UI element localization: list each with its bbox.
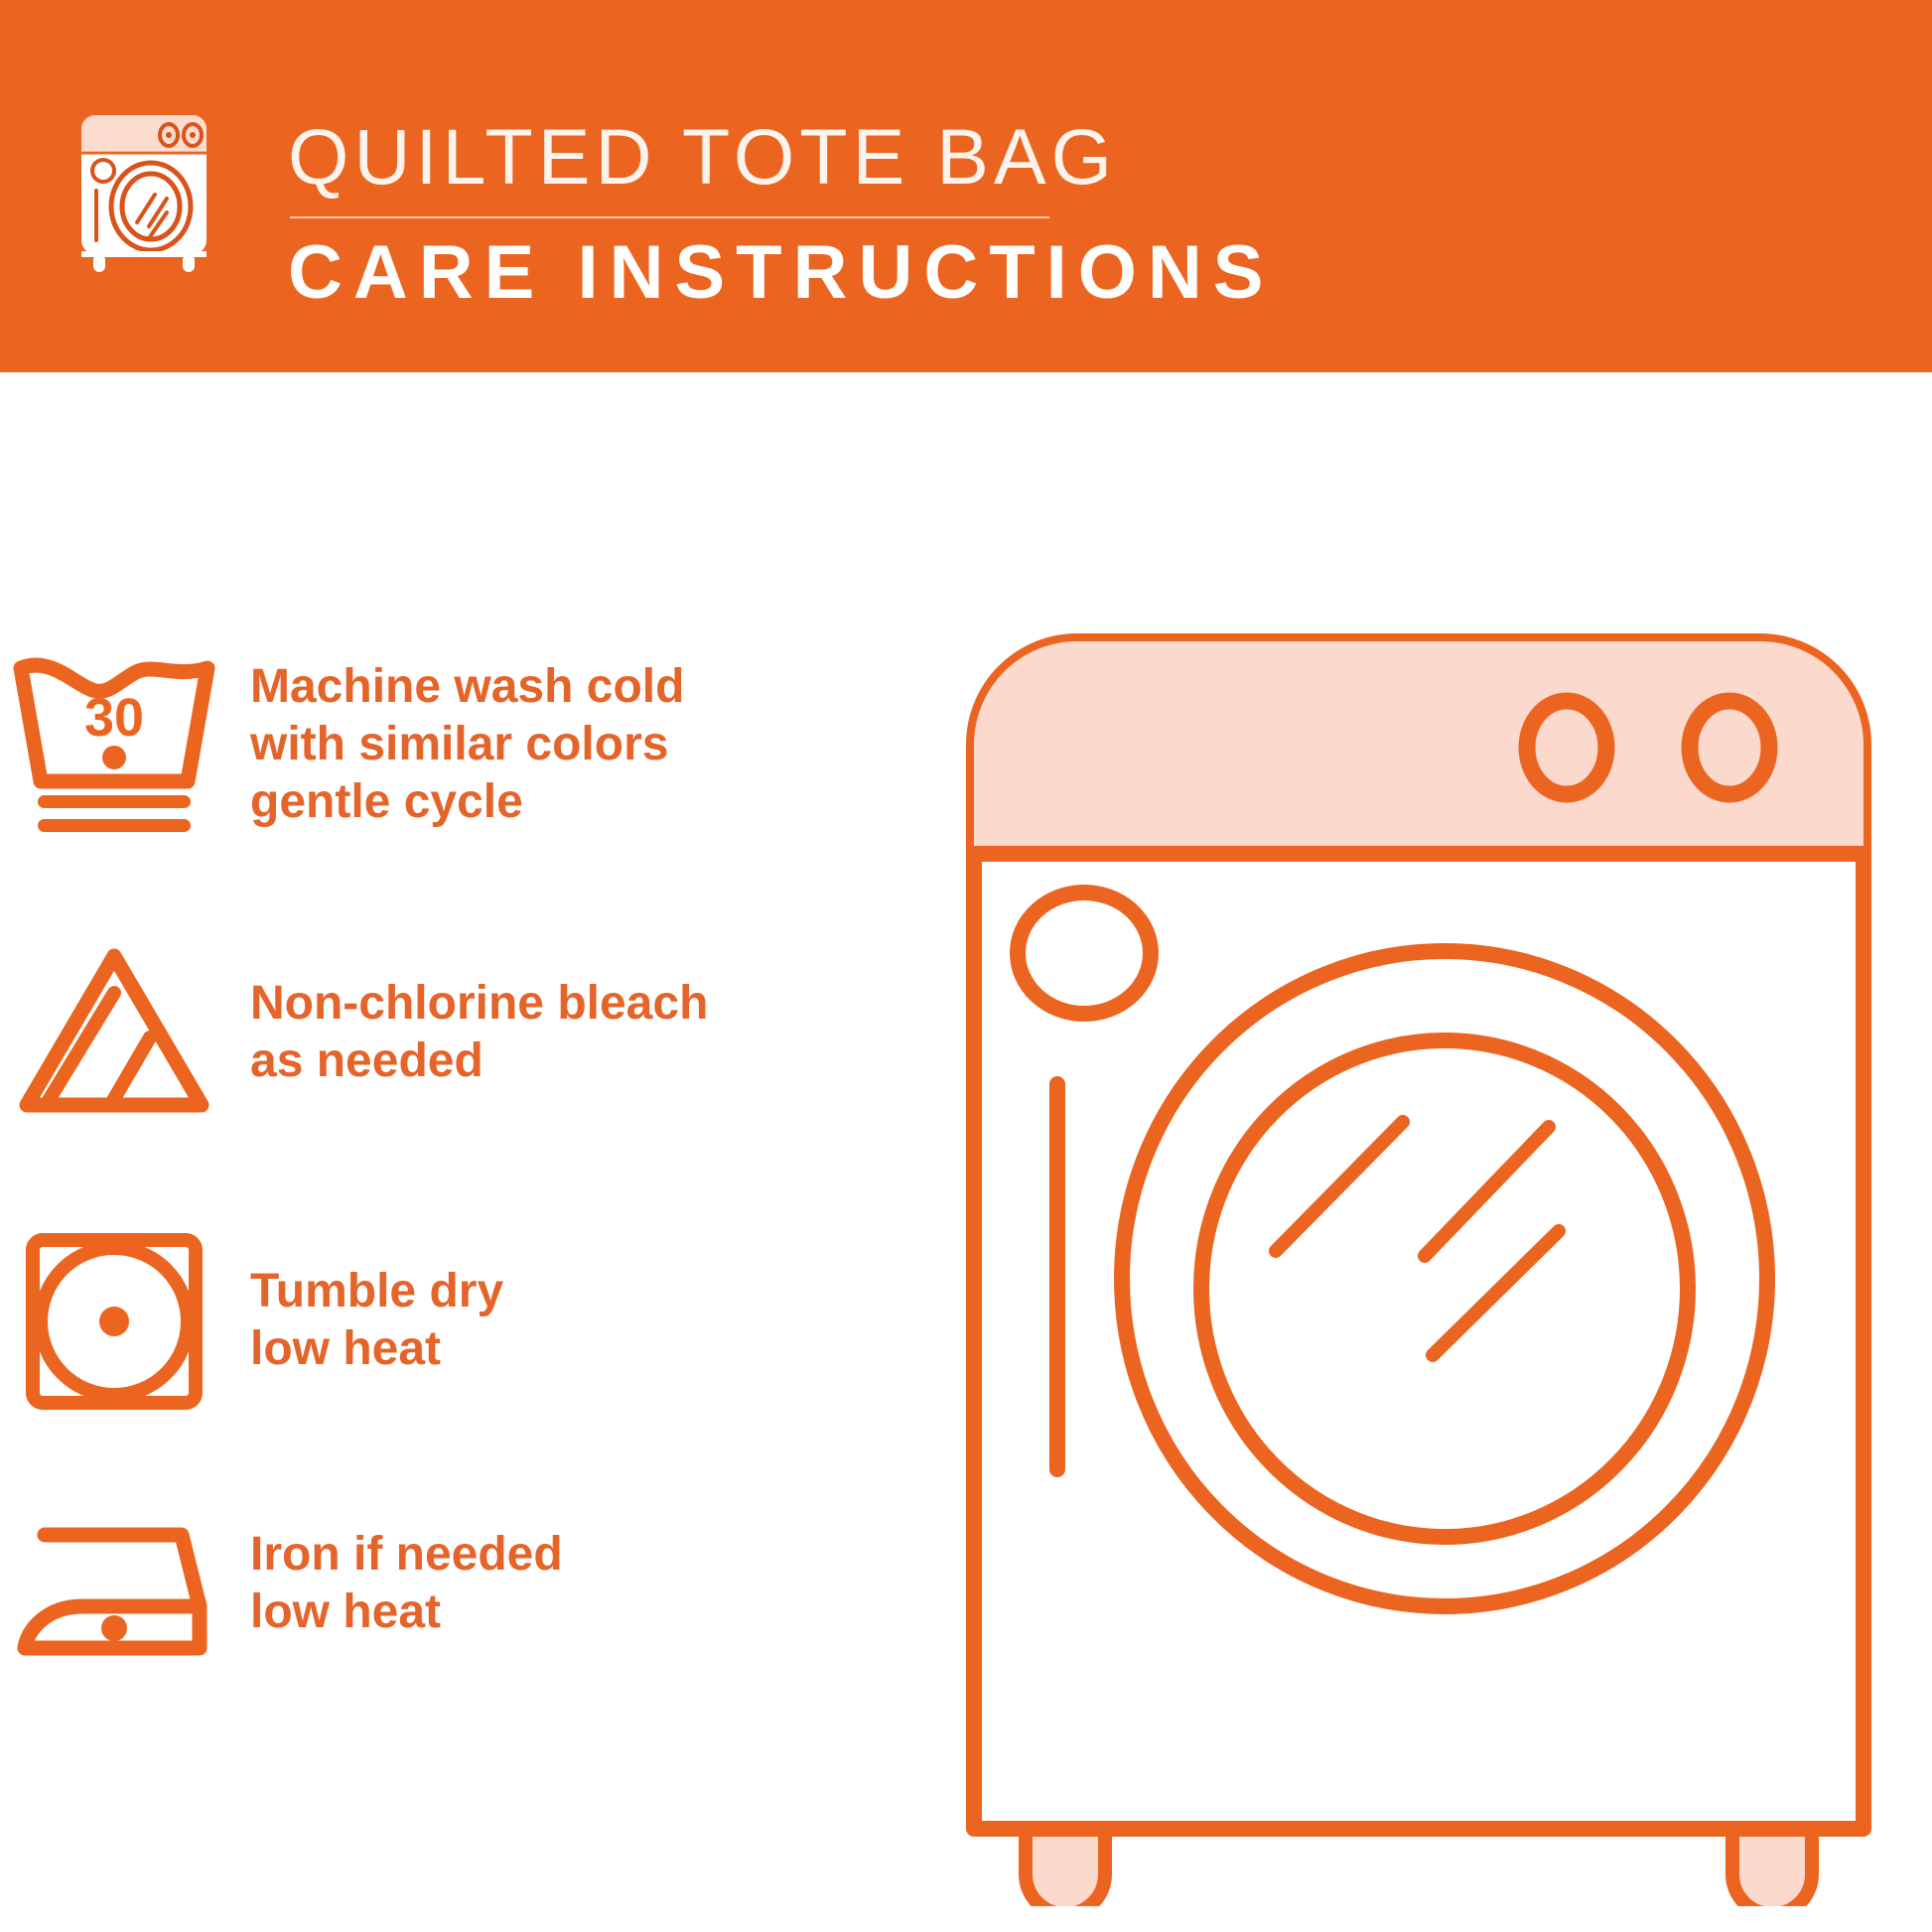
page-title: QUILTED TOTE BAG xyxy=(288,111,1410,203)
care-label-tumble-dry: Tumble dry low heat xyxy=(228,1263,503,1378)
tumble-dry-low-icon xyxy=(0,1221,228,1420)
knob-right xyxy=(1690,701,1769,794)
knob-left xyxy=(1527,701,1606,794)
care-row-machine-wash: 30 Machine wash cold with similar colors… xyxy=(0,645,933,844)
header-banner: QUILTED TOTE BAG CARE INSTRUCTIONS xyxy=(0,0,1932,372)
svg-text:30: 30 xyxy=(84,688,144,748)
care-row-bleach: Non-chlorine bleach as needed xyxy=(0,933,933,1132)
wash-basin-30-icon: 30 xyxy=(0,645,228,844)
care-label-iron: Iron if needed low heat xyxy=(228,1526,563,1641)
care-row-tumble-dry: Tumble dry low heat xyxy=(0,1221,933,1420)
header-title-block: QUILTED TOTE BAG CARE INSTRUCTIONS xyxy=(288,111,1410,316)
non-chlorine-bleach-triangle-icon xyxy=(0,933,228,1132)
page-subtitle: CARE INSTRUCTIONS xyxy=(288,230,1410,316)
care-label-machine-wash: Machine wash cold with similar colors ge… xyxy=(228,658,684,831)
care-row-iron: Iron if needed low heat xyxy=(0,1484,933,1683)
washing-machine-logo-icon xyxy=(69,107,218,276)
front-load-washing-machine-illustration xyxy=(948,616,1886,1906)
iron-low-heat-icon xyxy=(0,1484,228,1683)
care-label-bleach: Non-chlorine bleach as needed xyxy=(228,975,708,1090)
title-divider xyxy=(290,216,1049,218)
